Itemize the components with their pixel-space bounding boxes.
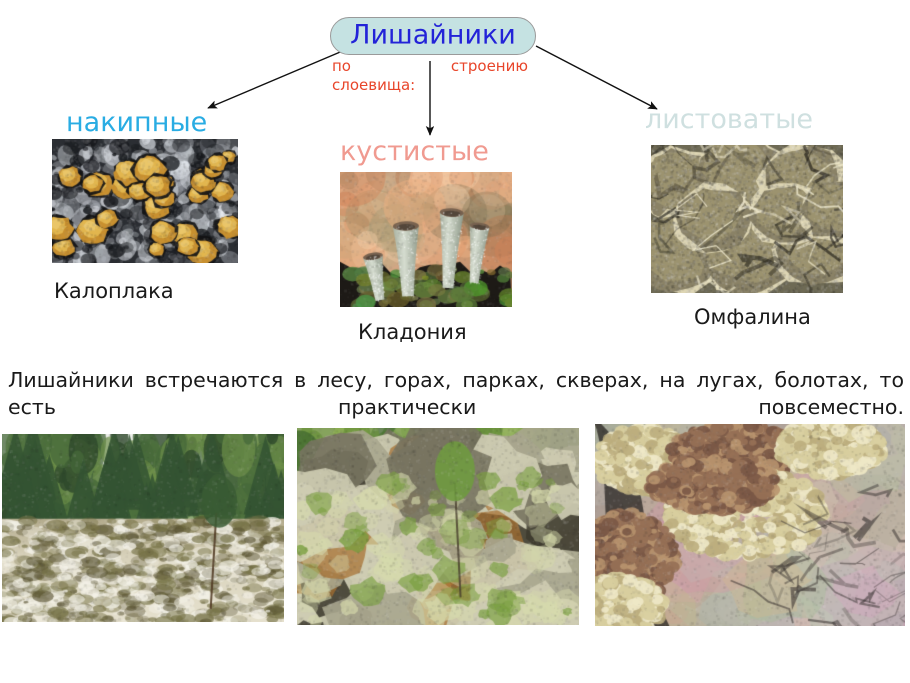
arrow-to-crustose <box>208 47 352 108</box>
criterion-word-1: по <box>332 57 351 76</box>
slide-title-box: Лишайники <box>330 17 536 55</box>
category-label-foliose: листоватые <box>645 105 813 135</box>
category-label-fruticose: кустистые <box>340 137 489 167</box>
photo-caloplaca <box>52 139 238 263</box>
criterion-word-2: строению <box>451 57 528 76</box>
photo-cladonia <box>340 172 512 307</box>
photo-cladonia-canvas <box>340 172 512 307</box>
photo-omphalina-canvas <box>651 145 843 293</box>
photo-habitat-rocks <box>297 428 579 625</box>
photo-habitat-cushion-canvas <box>595 424 905 626</box>
photo-habitat-forest <box>2 434 284 622</box>
arrow-to-foliose <box>536 46 657 109</box>
photo-habitat-forest-canvas <box>2 434 284 622</box>
classification-criterion: по строению слоевища: <box>332 57 554 95</box>
species-caption-omphalina: Омфалина <box>694 305 811 330</box>
category-label-crustose: накипные <box>66 108 207 138</box>
photo-caloplaca-canvas <box>52 139 238 263</box>
species-caption-cladonia: Кладония <box>358 320 467 345</box>
page-title: Лишайники <box>331 20 535 50</box>
photo-habitat-rocks-canvas <box>297 428 579 625</box>
species-caption-caloplaca: Калоплака <box>54 279 174 304</box>
photo-omphalina <box>651 145 843 293</box>
photo-habitat-cushion <box>595 424 905 626</box>
criterion-line-2: слоевища: <box>332 76 554 95</box>
slide-canvas: Лишайники по строению слоевища: накипные… <box>0 0 910 683</box>
